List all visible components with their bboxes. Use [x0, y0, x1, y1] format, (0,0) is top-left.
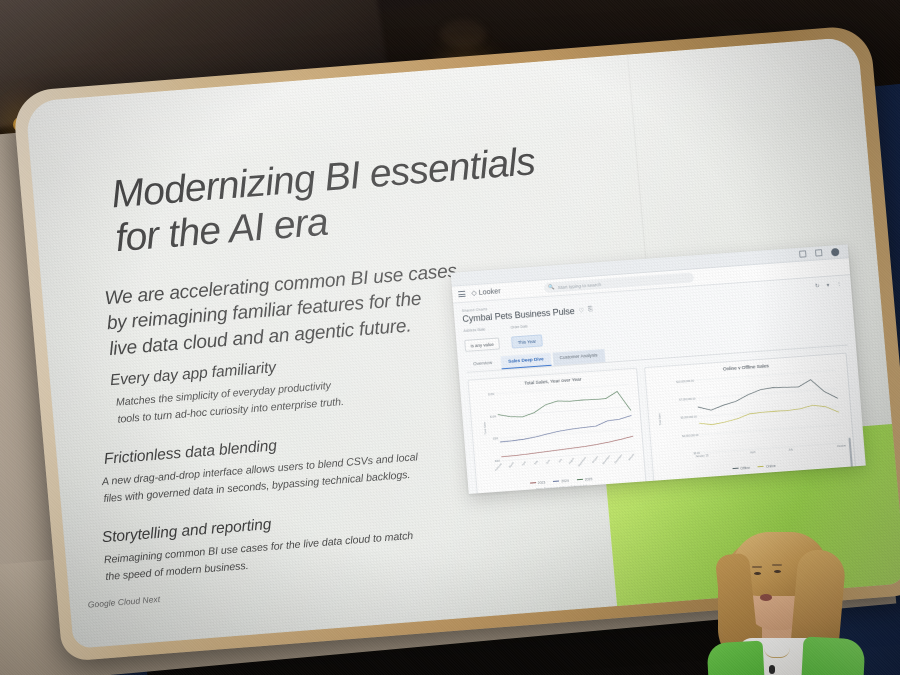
looker-brand-name: Looker — [478, 288, 501, 297]
slide-title: Modernizing BI essentials for the AI era — [110, 140, 541, 262]
svg-text:Total Sales: Total Sales — [483, 421, 487, 435]
eyebrow-left — [752, 566, 762, 568]
svg-text:$10M: $10M — [490, 414, 497, 419]
account-icon[interactable] — [831, 247, 840, 256]
hamburger-menu-icon[interactable] — [458, 291, 465, 297]
filter-value[interactable]: is any value — [464, 338, 500, 352]
chart-canvas-online-offline: $0.00$2,500,000.00$5,000,000.00$7,500,00… — [650, 366, 850, 471]
slide-sections: Every day app familiarity Matches the si… — [87, 343, 507, 608]
svg-text:November: November — [602, 454, 611, 465]
filter-icon[interactable]: ▾ — [826, 283, 829, 289]
legend-item[interactable]: 2024 — [553, 478, 569, 483]
filter-label: Address State — [463, 326, 498, 333]
svg-text:April: April — [750, 449, 756, 453]
filter-label: Order Date — [510, 323, 541, 329]
slide-footer-branding: Google Cloud Next — [87, 594, 160, 610]
svg-text:July: July — [558, 457, 563, 463]
line-chart-online-offline: $0.00$2,500,000.00$5,000,000.00$7,500,00… — [650, 366, 850, 471]
svg-text:December: December — [614, 453, 623, 464]
svg-text:July: July — [788, 447, 794, 451]
filter-address-state[interactable]: Address State is any value — [463, 326, 500, 352]
svg-text:January: January — [628, 452, 636, 461]
line-chart-total-sales: $0M$5M$10M$15MTotal SalesFebruaryMarchAp… — [473, 381, 640, 484]
svg-text:$2,500,000.00: $2,500,000.00 — [682, 432, 699, 437]
legend-label: Online — [766, 464, 776, 469]
favorite-icon[interactable]: ♡ — [578, 307, 584, 314]
svg-text:August: August — [568, 457, 575, 465]
search-placeholder: Start typing to search — [558, 282, 602, 290]
looker-logo-icon: ◇ — [471, 289, 477, 297]
cardigan-left — [707, 641, 766, 675]
svg-text:April: April — [522, 460, 528, 466]
svg-text:June: June — [545, 458, 551, 465]
tile-online-v-offline[interactable]: Online v Offline Sales $0.00$2,500,000.0… — [644, 352, 857, 488]
legend-swatch — [732, 468, 738, 469]
presenter-person — [690, 520, 890, 675]
eyebrow-right — [772, 564, 782, 566]
save-icon[interactable] — [799, 250, 807, 257]
svg-text:$5,000,000.00: $5,000,000.00 — [680, 414, 697, 419]
svg-text:October: October — [837, 443, 847, 448]
svg-text:$5M: $5M — [493, 436, 498, 440]
svg-text:$7,500,000.00: $7,500,000.00 — [679, 396, 696, 401]
svg-text:Total Sales: Total Sales — [658, 412, 662, 425]
slide-section: Storytelling and reporting Reimagining c… — [101, 498, 505, 585]
looker-dashboard-body: ↻ ▾ ⋮ Shared Charts Cymbal Pets Business… — [453, 275, 866, 494]
svg-text:March: March — [508, 461, 515, 469]
svg-text:$10,000,000.00: $10,000,000.00 — [676, 378, 695, 383]
tab-overview[interactable]: Overview — [466, 356, 500, 371]
legend-item[interactable]: 2025 — [577, 477, 593, 482]
filter-order-date[interactable]: Order Date This Year — [510, 323, 542, 349]
legend-swatch — [530, 482, 536, 483]
looker-dashboard-screenshot: ◇ Looker 🔍 Start typing to search ↻ ▾ ⋮ — [451, 244, 866, 494]
legend-label: 2024 — [561, 478, 569, 483]
legend-item[interactable]: 2023 — [530, 480, 546, 485]
legend-label: 2023 — [538, 480, 546, 485]
legend-swatch — [577, 479, 583, 480]
looker-brand[interactable]: ◇ Looker — [471, 287, 501, 297]
more-icon[interactable]: ⋮ — [836, 282, 842, 288]
legend-swatch — [758, 466, 764, 467]
svg-text:September: September — [577, 456, 587, 467]
legend-swatch — [553, 481, 559, 482]
extension-icon[interactable] — [815, 249, 823, 256]
refresh-icon[interactable]: ↻ — [815, 283, 820, 289]
svg-text:October: October — [591, 455, 599, 464]
legend-item[interactable]: Offline — [732, 465, 750, 470]
ceiling-fixture-dark — [440, 20, 486, 48]
slide-subtitle: We are accelerating common BI use cases … — [104, 259, 463, 362]
slide-section: Frictionless data blending A new drag-an… — [94, 420, 498, 507]
svg-text:$15M: $15M — [488, 391, 495, 396]
legend-label: Offline — [740, 465, 750, 470]
search-icon: 🔍 — [548, 284, 555, 290]
mouth — [760, 594, 772, 601]
lapel-microphone-icon — [769, 665, 775, 674]
svg-text:May: May — [534, 459, 540, 465]
svg-text:$0M: $0M — [495, 458, 500, 462]
tile-total-sales-yoy[interactable]: Total Sales, Year over Year $0M$5M$10M$1… — [467, 367, 647, 494]
filter-value[interactable]: This Year — [511, 335, 542, 349]
chart-canvas-total-sales: $0M$5M$10M$15MTotal SalesFebruaryMarchAp… — [473, 381, 640, 484]
svg-text:February: February — [494, 461, 503, 471]
legend-label: 2025 — [585, 477, 593, 482]
eye-left — [754, 572, 761, 575]
legend-item[interactable]: Online — [758, 464, 776, 469]
cardigan-right — [800, 636, 865, 675]
eye-right — [774, 570, 781, 573]
copy-icon[interactable]: ⎘ — [588, 306, 593, 313]
